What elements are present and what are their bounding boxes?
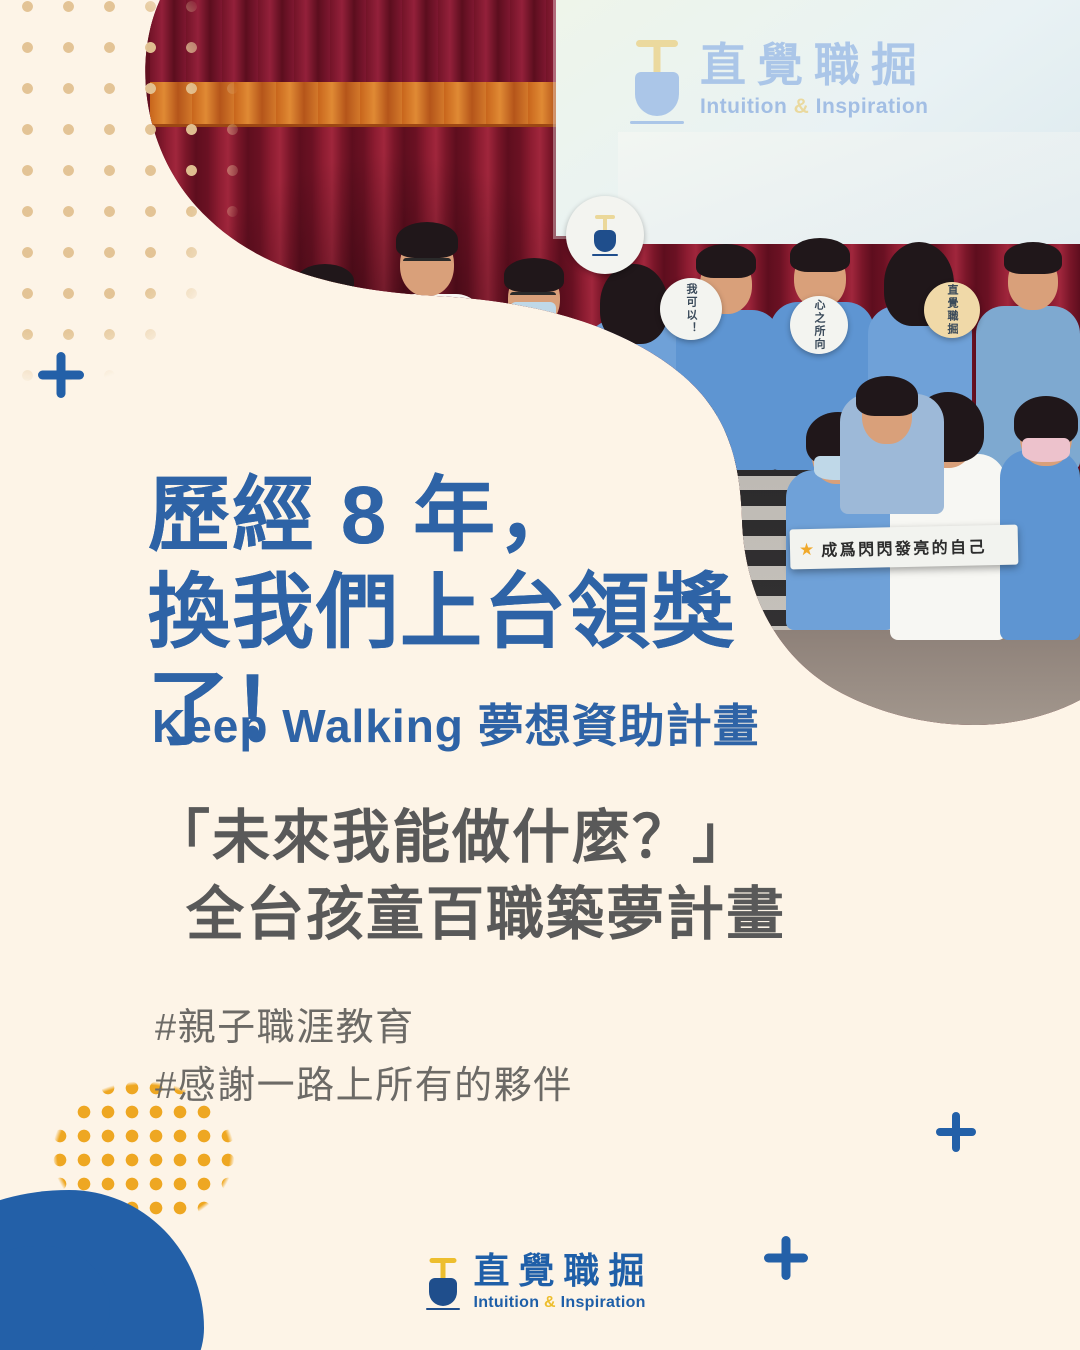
footer-brand-en: Intuition & Inspiration bbox=[473, 1294, 653, 1312]
poster-canvas: 直覺職掘 Intuition & Inspiration bbox=[0, 0, 1080, 1350]
eyeglasses bbox=[510, 292, 556, 302]
screen-brand-logo: 直覺職掘 Intuition & Inspiration bbox=[630, 34, 929, 126]
program-title-line2: 全台孩童百職築夢計畫 bbox=[152, 877, 912, 954]
shovel-icon bbox=[426, 1254, 460, 1312]
program-title: 「未來我能做什麼？」 全台孩童百職築夢計畫 bbox=[152, 800, 912, 953]
fan-sign-text: 心之所向 bbox=[811, 299, 827, 351]
hashtag-item: #親子職涯教育 bbox=[155, 1000, 573, 1058]
person-hair bbox=[790, 238, 850, 272]
hashtag-item: #感謝一路上所有的夥伴 bbox=[155, 1058, 573, 1116]
face-mask bbox=[1022, 438, 1070, 462]
shovel-icon bbox=[630, 34, 684, 126]
footer-brand-cn: 直覺職掘 bbox=[473, 1253, 653, 1289]
footer-brand-en-left: Intuition bbox=[473, 1294, 539, 1311]
person-hair bbox=[504, 258, 564, 292]
brand-en-right: Inspiration bbox=[816, 95, 929, 118]
footer-brand-en-right: Inspiration bbox=[561, 1294, 646, 1311]
plus-decoration-left bbox=[38, 352, 84, 398]
footer-brand-logo: 直覺職掘 Intuition & Inspiration bbox=[0, 1253, 1080, 1312]
person-body bbox=[482, 320, 590, 470]
fan-sign-logo bbox=[566, 196, 644, 274]
brand-en-left: Intuition bbox=[700, 95, 787, 118]
brand-en-amp: & bbox=[794, 95, 810, 118]
headline-line1: 歷經 8 年， bbox=[148, 468, 848, 565]
screen-brand-en: Intuition & Inspiration bbox=[700, 95, 929, 119]
person-hair bbox=[696, 244, 756, 278]
face-mask bbox=[510, 302, 556, 324]
person-hair bbox=[856, 376, 918, 416]
fan-sign-heart: 心之所向 bbox=[790, 296, 848, 354]
projection-screen-lower bbox=[618, 132, 1080, 244]
fan-sign-extra: 直覺職掘 bbox=[924, 282, 980, 338]
screen-brand-text: 直覺職掘 Intuition & Inspiration bbox=[700, 42, 929, 119]
polka-dots-overlay bbox=[0, 0, 436, 546]
subheadline: Keep Walking 夢想資助計畫 bbox=[152, 690, 760, 756]
program-title-line1: 「未來我能做什麼？」 bbox=[152, 805, 752, 870]
footer-brand-en-amp: & bbox=[544, 1294, 556, 1311]
fan-sign-text: 我可以！ bbox=[683, 283, 699, 335]
footer-brand-text: 直覺職掘 Intuition & Inspiration bbox=[473, 1253, 653, 1312]
fan-sign-i-can: 我可以！ bbox=[660, 278, 722, 340]
plus-decoration-right bbox=[936, 1112, 976, 1152]
fan-sign-text: 直覺職掘 bbox=[944, 284, 960, 336]
screen-brand-cn: 直覺職掘 bbox=[700, 42, 929, 88]
person-hair bbox=[1004, 242, 1062, 274]
shovel-icon bbox=[592, 212, 618, 258]
person-hair bbox=[600, 264, 668, 344]
hashtag-list: #親子職涯教育 #感謝一路上所有的夥伴 bbox=[155, 1000, 573, 1116]
